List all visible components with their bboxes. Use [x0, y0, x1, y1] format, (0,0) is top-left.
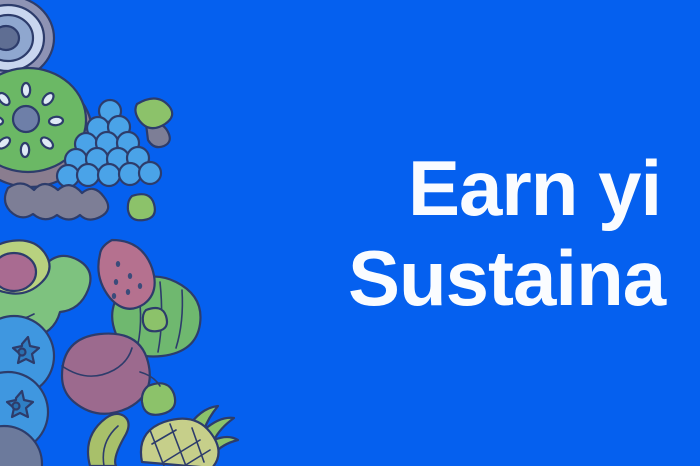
headline-line-2: Sustaina — [348, 233, 700, 323]
watermelon-icon — [98, 240, 200, 357]
blueberry-bottom-icon — [0, 372, 48, 452]
berry-partial-icon — [0, 426, 42, 466]
fruit-and-vegetable-collage: .ol { stroke:#2d3c6b; stroke-width:2.2; … — [0, 0, 240, 466]
leaf-accent-icon — [143, 308, 167, 331]
promotional-banner: .ol { stroke:#2d3c6b; stroke-width:2.2; … — [0, 0, 700, 466]
pineapple-icon — [141, 406, 238, 466]
long-pepper-icon — [0, 178, 108, 220]
kiwi-slice-icon — [0, 68, 92, 187]
avocado-half-icon — [0, 240, 90, 339]
peach-plum-icon — [62, 334, 175, 415]
headline: Earn yi Sustaina — [348, 143, 700, 323]
small-leaf-icon — [128, 194, 155, 220]
banana-icon — [88, 414, 129, 466]
grape-cluster-icon — [57, 98, 172, 187]
blueberry-top-icon — [0, 316, 54, 396]
onion-slice-icon — [0, 0, 54, 80]
headline-line-1: Earn yi — [348, 143, 700, 233]
